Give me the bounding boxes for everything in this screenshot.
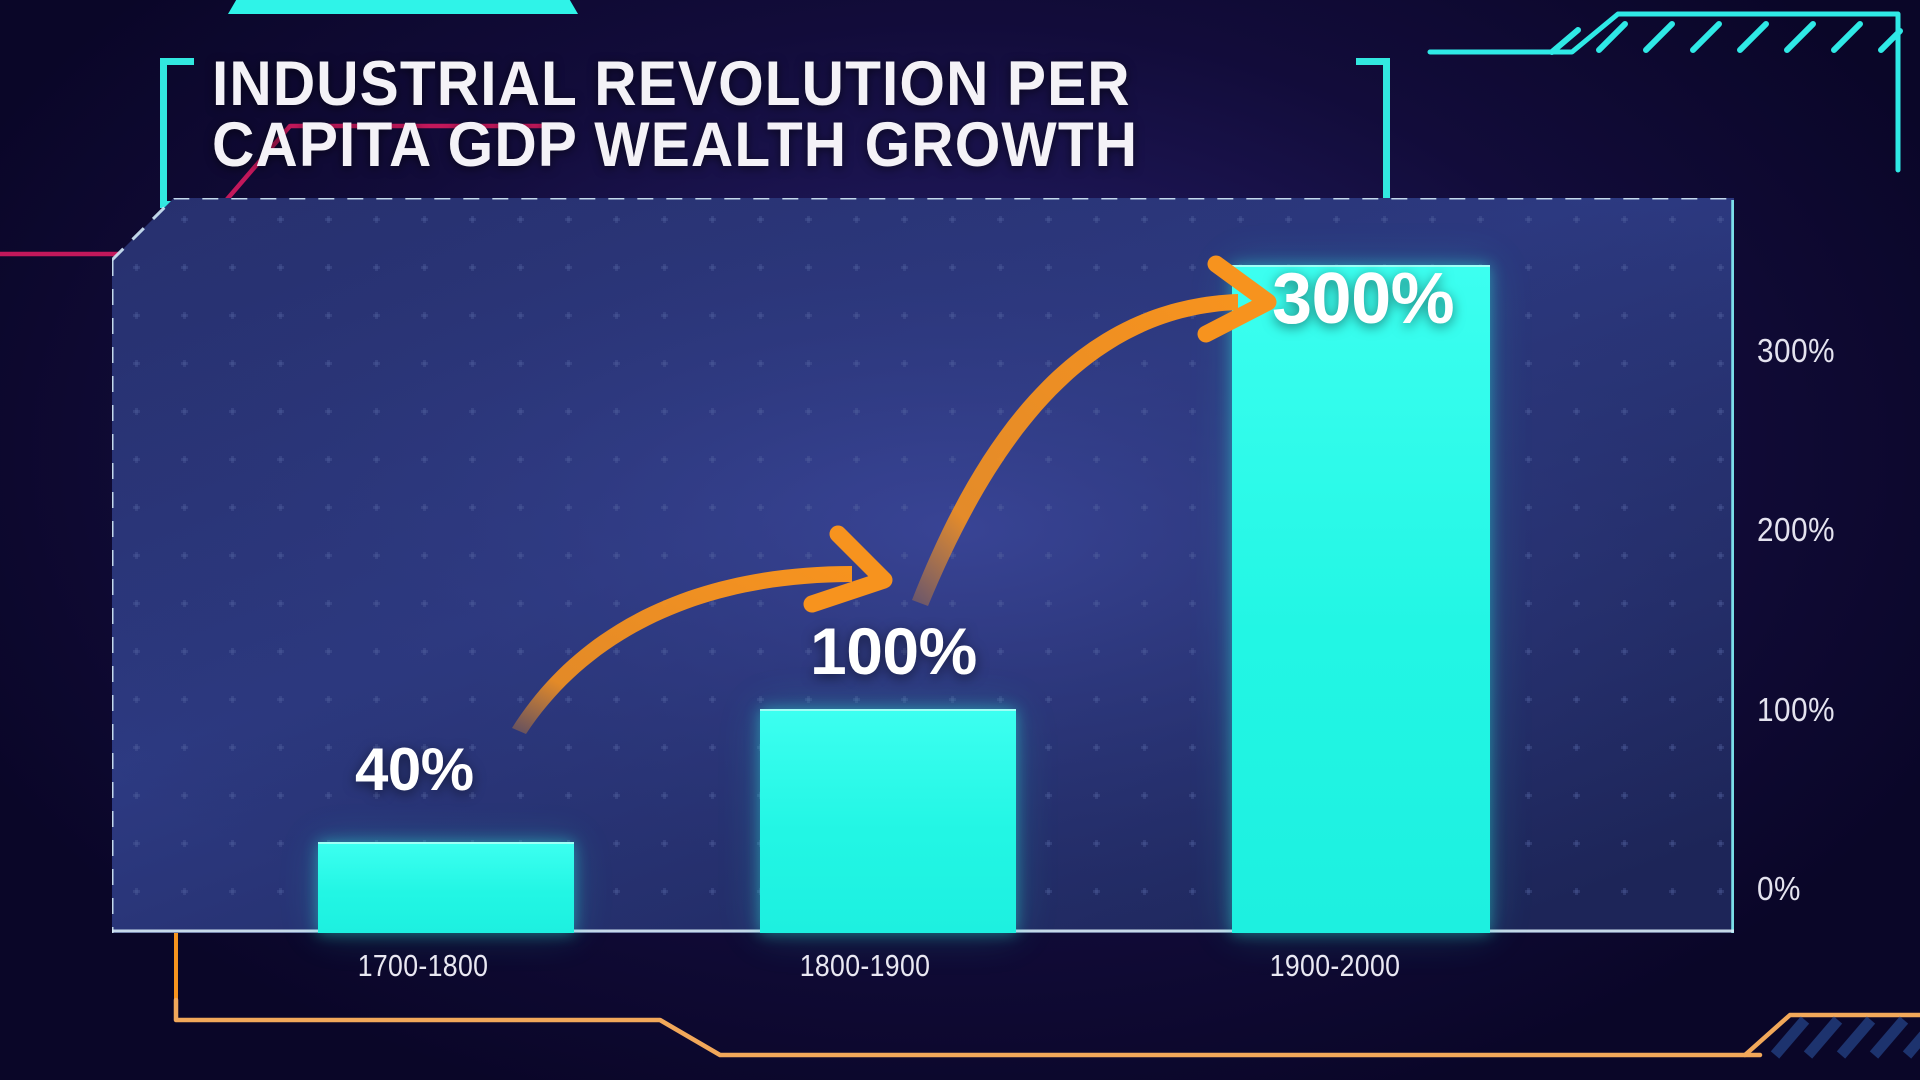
category-label-1900-2000: 1900-2000 [1193, 948, 1477, 984]
cyan-tab-icon [228, 0, 578, 14]
value-label-1700-1800: 40% [355, 735, 474, 804]
bracket-left-icon [160, 58, 194, 208]
ytick-200: 200% [1757, 511, 1835, 549]
value-label-1800-1900: 100% [810, 613, 977, 689]
bar-1700-1800[interactable] [318, 842, 574, 933]
title-line-1: INDUSTRIAL REVOLUTION PER [212, 54, 1263, 115]
plot-area [112, 198, 1734, 933]
bottom-orange-frame-icon [176, 1000, 1920, 1055]
bracket-right-icon [1356, 58, 1390, 208]
bar-1800-1900[interactable] [760, 709, 1016, 933]
ytick-100: 100% [1757, 691, 1835, 729]
value-label-1900-2000: 300% [1272, 258, 1454, 340]
ytick-0: 0% [1757, 870, 1801, 908]
ytick-300: 300% [1757, 332, 1835, 370]
title-line-2: CAPITA GDP WEALTH GROWTH [212, 115, 1263, 176]
cyan-hatched-frame-icon [1430, 14, 1900, 170]
category-label-1800-1900: 1800-1900 [723, 948, 1007, 984]
category-label-1700-1800: 1700-1800 [281, 948, 565, 984]
infographic-canvas: INDUSTRIAL REVOLUTION PER CAPITA GDP WEA… [0, 0, 1920, 1080]
bar-1900-2000[interactable] [1232, 265, 1490, 933]
bottom-right-hatch-icon [1775, 1020, 1920, 1055]
page-title: INDUSTRIAL REVOLUTION PER CAPITA GDP WEA… [160, 58, 1390, 208]
